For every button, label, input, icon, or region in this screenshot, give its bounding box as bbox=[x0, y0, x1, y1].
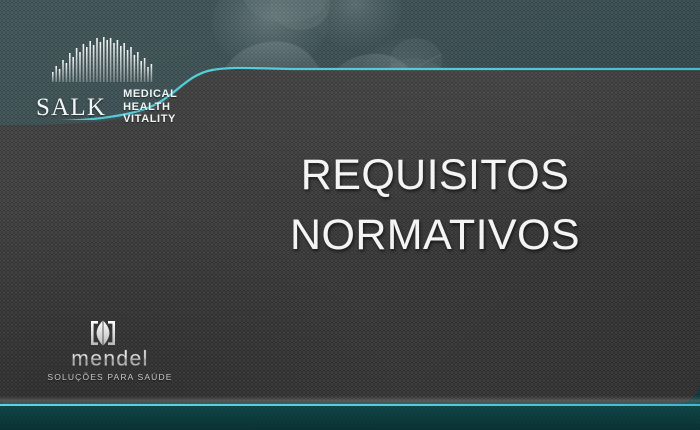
slide-title-line-1: REQUISITOS bbox=[200, 145, 670, 205]
mendel-logo: mendel SOLUÇÕES PARA SAÚDE bbox=[30, 318, 190, 388]
salk-name: SALK bbox=[36, 95, 115, 120]
salk-wordmark: SALK MEDICAL HEALTH VITALITY bbox=[36, 86, 164, 128]
salk-tagline-line-1: MEDICAL bbox=[123, 88, 177, 100]
mendel-wordmark: mendel bbox=[30, 348, 190, 372]
slide-title: REQUISITOS NORMATIVOS bbox=[200, 145, 670, 265]
mendel-tagline: SOLUÇÕES PARA SAÚDE bbox=[30, 372, 190, 382]
presentation-slide: SALK MEDICAL HEALTH VITALITY REQUISITOS … bbox=[0, 0, 700, 430]
salk-tagline-line-3: VITALITY bbox=[123, 113, 177, 125]
slide-title-line-2: NORMATIVOS bbox=[200, 205, 670, 265]
salk-logo: SALK MEDICAL HEALTH VITALITY bbox=[36, 36, 164, 128]
footer-band bbox=[0, 406, 700, 430]
salk-tagline: MEDICAL HEALTH VITALITY bbox=[123, 88, 177, 125]
equalizer-dome-icon bbox=[50, 36, 154, 82]
salk-tagline-line-2: HEALTH bbox=[123, 101, 177, 113]
mendel-wordmark-text: mendel bbox=[71, 348, 148, 370]
carbon-weave-texture-footer bbox=[0, 406, 700, 430]
mendel-shield-icon bbox=[86, 318, 120, 348]
